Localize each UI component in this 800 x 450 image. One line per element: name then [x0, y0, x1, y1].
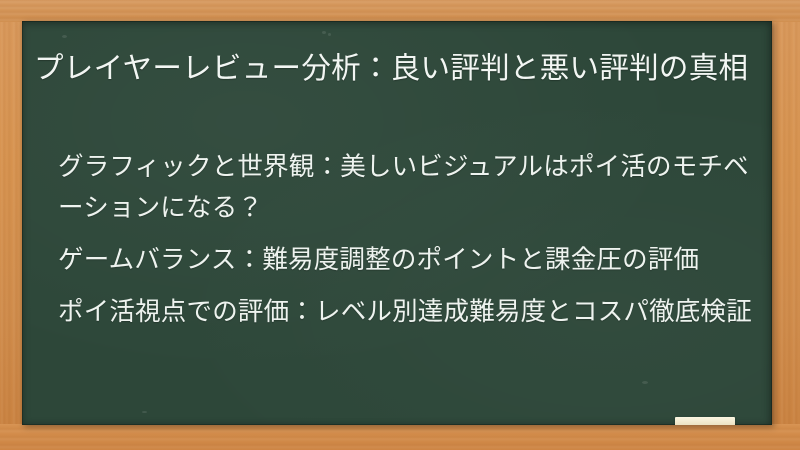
bullet-list: グラフィックと世界観：美しいビジュアルはポイ活のモチベーションになる？ ゲームバ…: [34, 147, 770, 344]
wooden-frame-bottom-ledge: [0, 424, 800, 450]
chalk-dust-speck: [142, 411, 147, 413]
chalk-stick: [675, 417, 735, 425]
page-title: プレイヤーレビュー分析：良い評判と悪い評判の真相: [34, 47, 760, 91]
chalk-dust-speck: [328, 33, 331, 36]
slide-canvas: プレイヤーレビュー分析：良い評判と悪い評判の真相 グラフィックと世界観：美しいビ…: [0, 0, 800, 450]
list-item: ゲームバランス：難易度調整のポイントと課金圧の評価: [34, 240, 770, 281]
chalkboard: プレイヤーレビュー分析：良い評判と悪い評判の真相 グラフィックと世界観：美しいビ…: [22, 21, 772, 425]
wooden-frame-top-rail: [0, 0, 800, 22]
chalk-dust-speck: [642, 381, 648, 384]
list-item: ポイ活視点での評価：レベル別達成難易度とコスパ徹底検証: [34, 292, 770, 333]
chalk-dust-speck: [62, 35, 67, 38]
chalk-dust-speck: [322, 31, 326, 34]
list-item: グラフィックと世界観：美しいビジュアルはポイ活のモチベーションになる？: [34, 147, 770, 229]
